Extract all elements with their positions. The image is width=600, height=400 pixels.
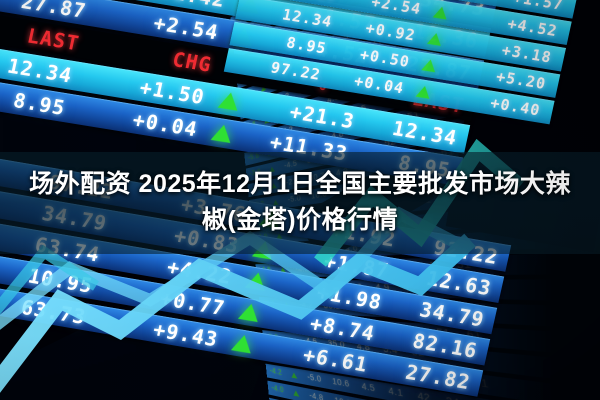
ticker-value: +0.92 [364,18,417,44]
ticker-value: +2.54 [370,0,423,18]
ticker-value: 97.22 [269,58,322,84]
ticker-value: +5.20 [495,67,548,93]
ticker-value: +0.77 [158,285,228,319]
ticker-value: 8.95 [11,88,68,120]
up-triangle-icon [245,271,268,291]
ticker-cell [411,84,438,100]
ticker-value: +2.54 [152,10,221,44]
ticker-cell [224,332,261,354]
ticker-value: +6.61 [301,342,371,376]
up-triangle-icon [416,85,432,99]
ticker-cell [238,270,275,292]
ticker-value: +4.52 [506,14,559,40]
title-line-1: 场外配资 2025年12月1日全国主要批发市场大辣 [29,168,571,202]
up-triangle-icon [433,6,449,20]
ticker-value: 12.63 [424,266,494,300]
ticker-value: +1.50 [138,75,207,109]
ticker-cell [428,5,455,21]
ticker-value: +8.74 [308,311,378,345]
ticker-header-label: CHG [170,47,214,77]
ticker-value: +0.04 [131,107,200,141]
ticker-value: +0.40 [489,93,542,119]
up-triangle-icon [427,32,443,46]
ticker-value: +0.04 [353,71,406,97]
title-block: 场外配资 2025年12月1日全国主要批发市场大辣 椒(金塔)价格行情 [0,152,600,254]
ticker-value: 12.34 [5,53,74,87]
ticker-value: +0.50 [358,45,411,71]
ticker-cell [422,31,449,47]
ticker-value: 27.82 [404,359,474,393]
ticker-value: +4.22 [165,254,235,288]
ticker-cell [231,301,268,323]
up-triangle-icon [238,302,261,322]
ticker-header-label: LAST [25,23,82,55]
ticker-value: 63.73 [19,294,89,328]
stock-market-banner: -4.6+0.230.24.64.9433341-5.7-4.230.24.64… [0,0,600,400]
up-triangle-icon [422,58,438,72]
ticker-value: 10.95 [26,263,96,297]
ticker-cell [416,58,443,74]
ticker-value: 8.95 [285,33,328,57]
ticker-value: +3.18 [500,41,553,67]
title-line-2: 椒(金塔)价格行情 [202,204,398,238]
ticker-value: 27.87 [19,0,88,23]
up-triangle-icon [231,333,254,353]
ticker-value: 82.16 [410,328,480,362]
ticker-value: 12.34 [281,5,334,31]
ticker-value: +1.57 [512,0,565,13]
ticker-value: +9.43 [151,317,221,351]
ticker-value: 34.79 [417,297,487,331]
ticker-value: +1.98 [315,279,385,313]
